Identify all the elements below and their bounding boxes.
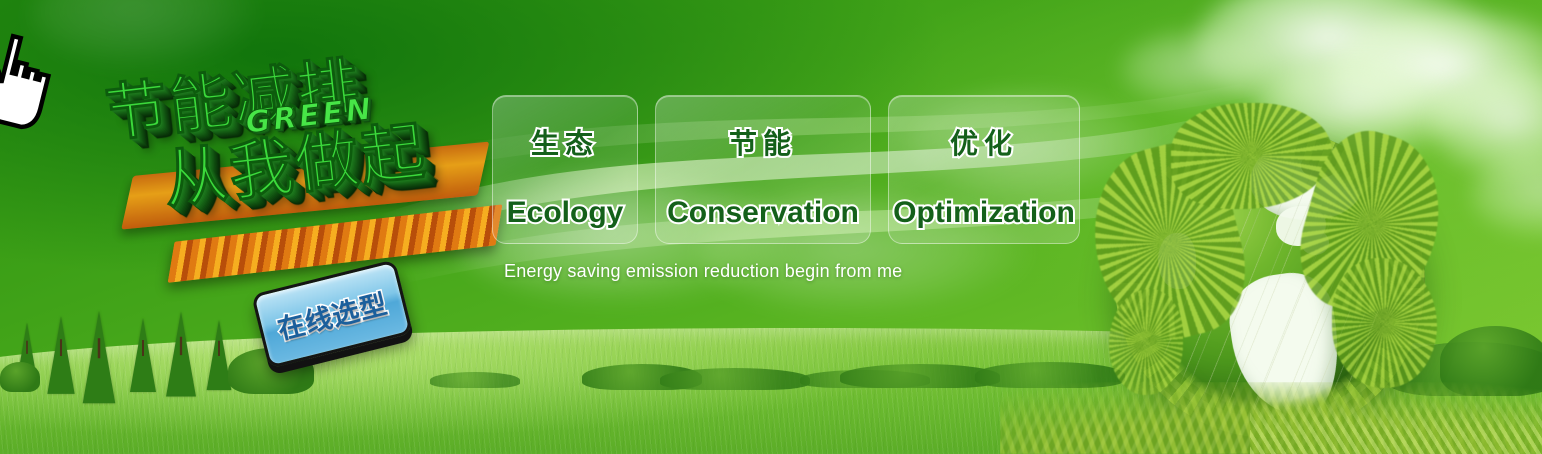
cloud-icon	[1330, 10, 1542, 135]
tree-icon	[130, 318, 156, 392]
treeline-icon	[430, 372, 520, 388]
shrub-icon	[0, 362, 40, 392]
feature-card-title-en: Optimization	[893, 196, 1075, 230]
cloud-icon	[1195, 0, 1495, 120]
tagline: Energy saving emission reduction begin f…	[504, 261, 902, 282]
hand-pointer-icon	[0, 26, 64, 138]
tree-icon	[83, 311, 116, 404]
cloud-icon	[1120, 30, 1280, 110]
feature-card-ecology[interactable]: 生态 Ecology	[492, 95, 638, 244]
fallen-leaves	[1250, 396, 1542, 454]
hero-title: 节能减排 GREEN 从我做起	[88, 20, 511, 294]
cloud-icon	[1430, 70, 1542, 180]
feature-card-title-cn: 生态	[531, 122, 599, 162]
feature-card-optimization[interactable]: 优化 Optimization	[888, 95, 1080, 244]
feature-card-title-cn: 节能	[729, 122, 797, 162]
tree-icon	[166, 311, 196, 396]
feature-card-title-en: Conservation	[667, 196, 859, 230]
feature-card-list: 生态 Ecology 节能 Conservation 优化 Optimizati…	[492, 95, 1080, 244]
leaf-cluster-icon	[1109, 289, 1183, 394]
cloud-icon	[1470, 150, 1542, 240]
treeline-icon	[660, 368, 810, 390]
feature-card-title-en: Ecology	[507, 196, 624, 230]
feature-card-title-cn: 优化	[950, 122, 1018, 162]
tree-icon	[47, 316, 74, 394]
feature-card-conservation[interactable]: 节能 Conservation	[655, 95, 871, 244]
eco-banner: 节能减排 GREEN 从我做起 在线选型 生态 Ecology 节能 Conse…	[0, 0, 1542, 454]
